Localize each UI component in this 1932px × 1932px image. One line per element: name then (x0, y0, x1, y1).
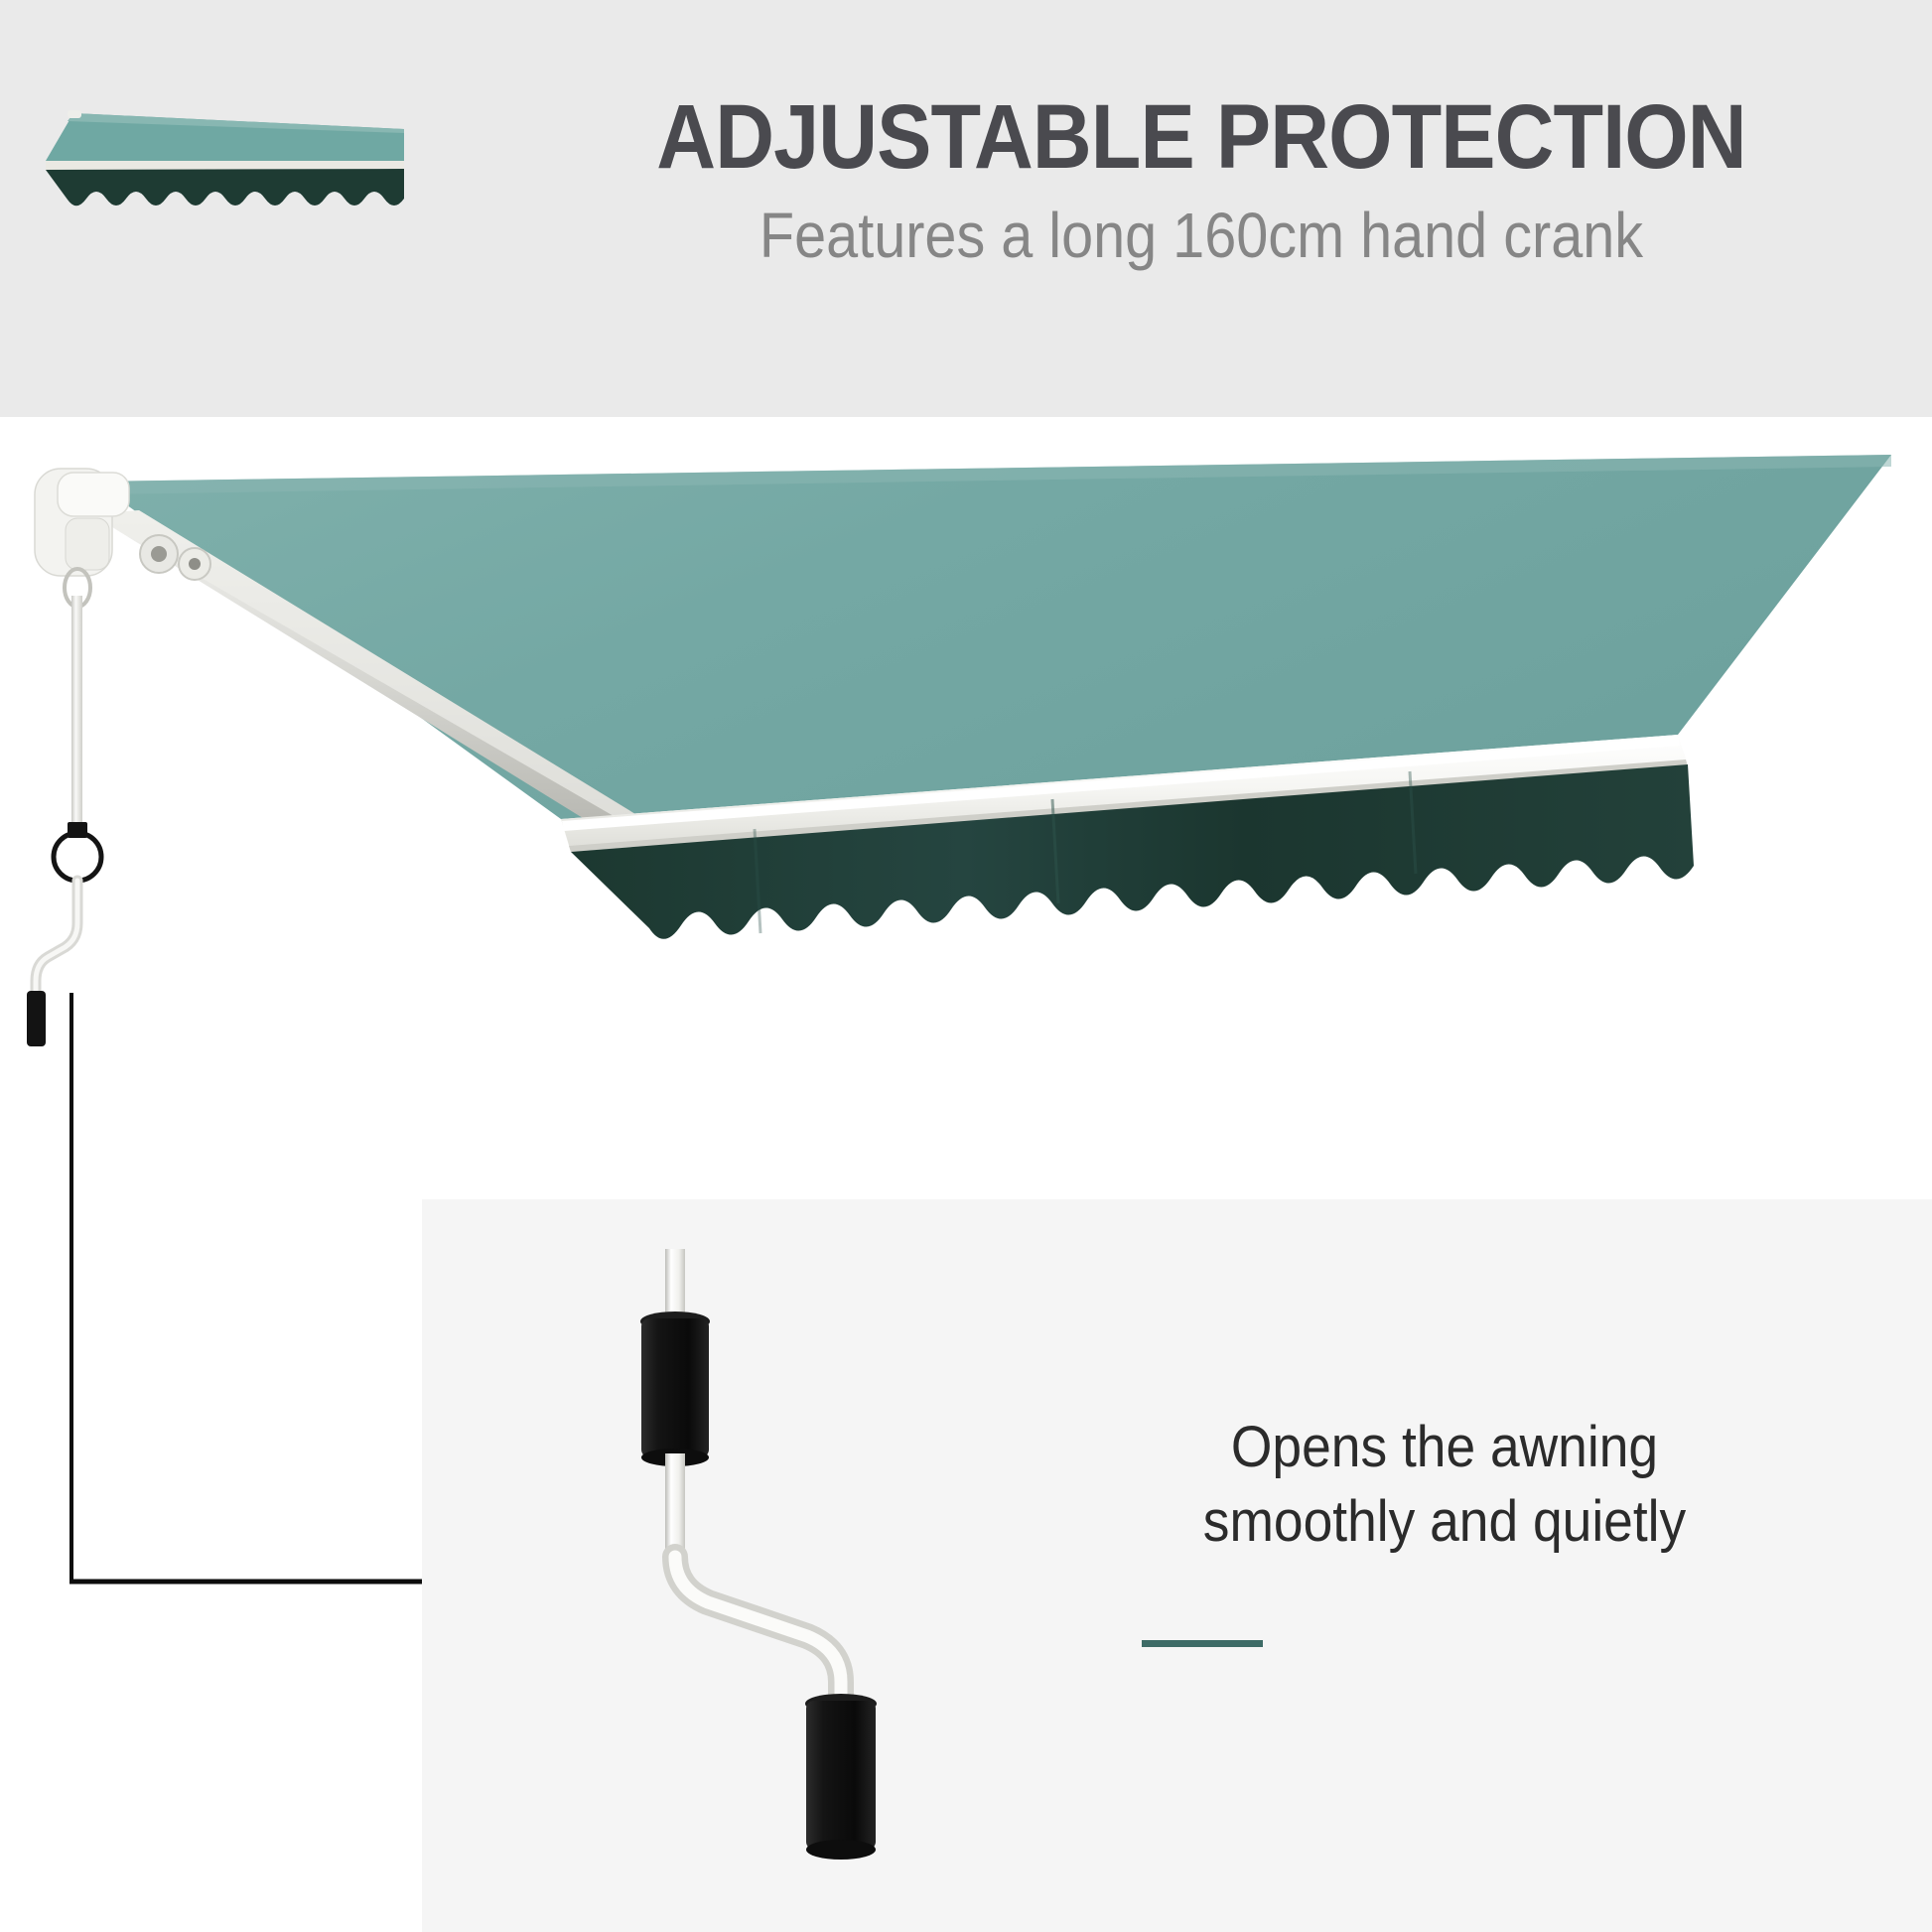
awning-thumbnail (38, 99, 405, 228)
accent-rule (1142, 1640, 1263, 1647)
hand-crank-photo (462, 1219, 938, 1914)
page-title: ADJUSTABLE PROTECTION (567, 91, 1836, 183)
infographic-page: ADJUSTABLE PROTECTION Features a long 16… (0, 0, 1932, 1932)
detail-caption-line-2: smoothly and quietly (1034, 1484, 1856, 1559)
page-subtitle: Features a long 160cm hand crank (567, 204, 1836, 267)
crank-length-measure (60, 993, 457, 1608)
detail-caption-line-1: Opens the awning (1034, 1410, 1856, 1484)
detail-caption: Opens the awning smoothly and quietly (1034, 1410, 1856, 1560)
detail-panel: Opens the awning smoothly and quietly (422, 1199, 1932, 1932)
main-awning-image (0, 437, 1932, 993)
